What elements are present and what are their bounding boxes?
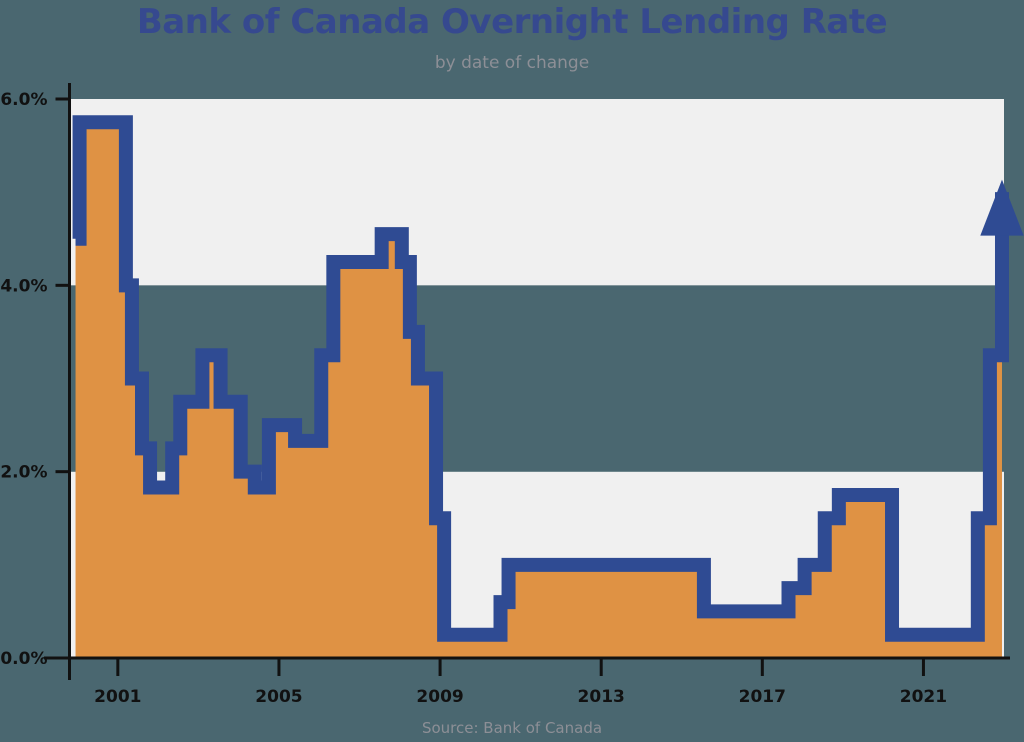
y-axis-tick-label: 0.0% (0, 649, 47, 669)
overnight-rate-area-chart: 0.0%2.0%4.0%6.0% 20012005200920132017202… (0, 0, 1024, 742)
x-axis-tick-label: 2001 (94, 687, 141, 707)
background-band (70, 99, 1005, 285)
x-axis-tick-label: 2005 (255, 687, 302, 707)
x-axis-tick-label: 2021 (900, 687, 947, 707)
y-axis-tick-label: 6.0% (0, 90, 47, 110)
x-axis-tick-label: 2017 (739, 687, 786, 707)
y-axis-tick-label: 2.0% (0, 463, 47, 483)
x-axis-tick-label: 2013 (578, 687, 625, 707)
chart-page: Bank of Canada Overnight Lending Rate by… (0, 0, 1024, 742)
chart-source-note: Source: Bank of Canada (0, 718, 1024, 738)
x-axis-tick-label: 2009 (416, 687, 463, 707)
y-axis-ticks: 0.0%2.0%4.0%6.0% (0, 90, 69, 669)
y-axis-tick-label: 4.0% (0, 276, 47, 296)
x-axis-ticks: 200120052009201320172021 (94, 658, 947, 707)
